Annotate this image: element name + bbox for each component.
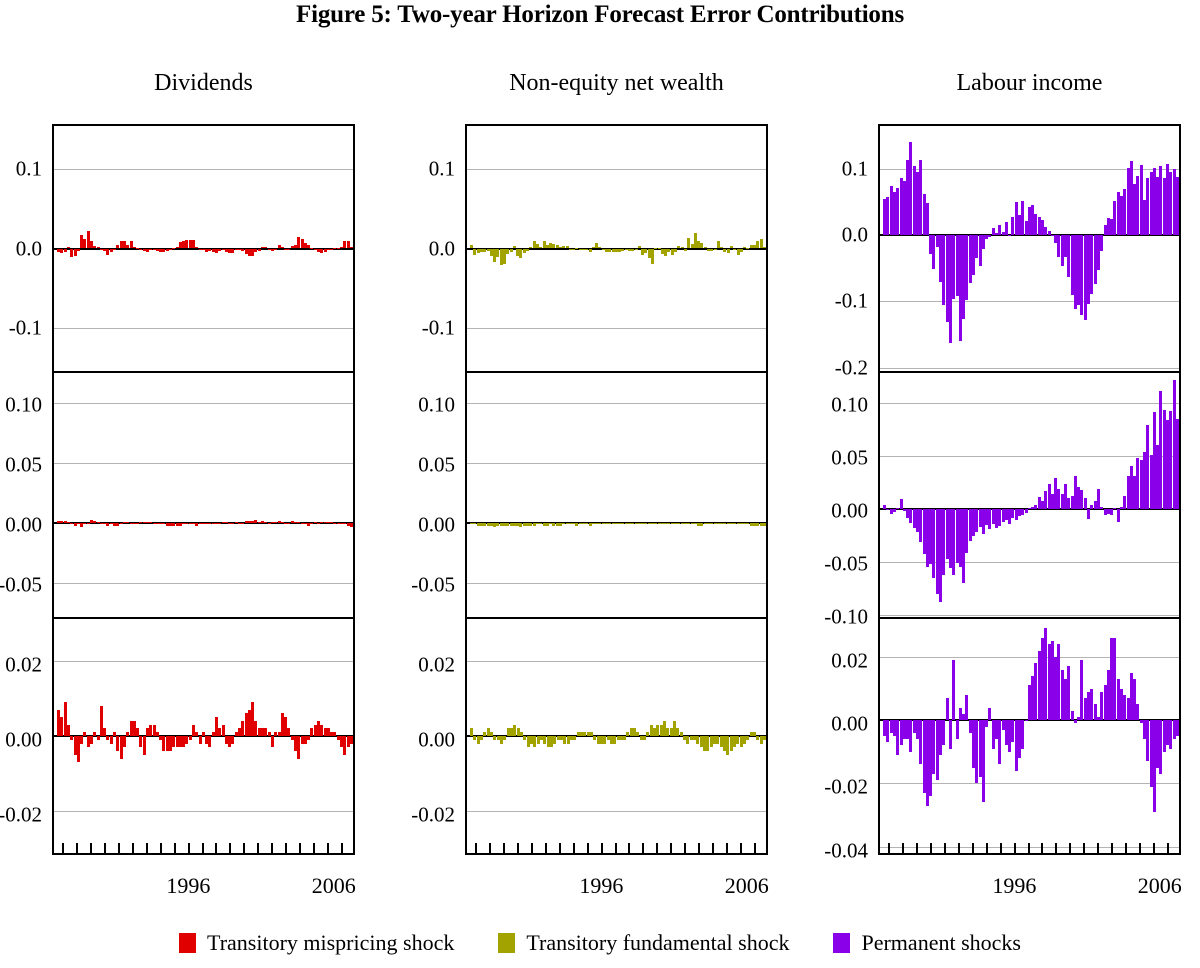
x-axis-label-2006: 2006 <box>1138 873 1182 899</box>
bar <box>1136 704 1139 720</box>
x-axis-ticks <box>52 843 355 855</box>
bar <box>113 249 116 251</box>
x-tick-mark <box>740 843 742 855</box>
x-tick-mark <box>146 843 148 855</box>
panel-non-equity-net-wealth-transitory-fundamental-shock <box>465 617 768 855</box>
bar <box>199 736 202 744</box>
x-tick-mark <box>313 843 315 855</box>
x-tick-mark <box>243 843 245 855</box>
y-tick-label: -0.1 <box>369 315 455 340</box>
x-axis-label-2006: 2006 <box>312 873 356 899</box>
y-tick-label: 0.00 <box>369 513 455 538</box>
y-tick-label: 0.02 <box>0 652 42 677</box>
legend-label-transitory-fundamental: Transitory fundamental shock <box>526 930 789 956</box>
x-tick-mark <box>1014 843 1016 855</box>
bar <box>480 736 483 740</box>
bar <box>900 499 903 509</box>
bar <box>526 249 529 251</box>
x-tick-mark <box>271 843 273 855</box>
bar <box>1176 419 1179 509</box>
bar <box>1071 711 1074 720</box>
bar <box>208 736 211 747</box>
legend-swatch-icon-permanent <box>833 933 850 953</box>
bar <box>949 720 952 748</box>
x-tick-mark <box>958 843 960 855</box>
bar <box>287 249 290 251</box>
x-tick-mark <box>726 843 728 855</box>
bar-series-transitory-mispricing-shock <box>54 373 353 617</box>
panel-non-equity-net-wealth-transitory-fundamental-shock <box>465 124 768 373</box>
bar <box>1176 177 1179 235</box>
y-tick-label: 0.02 <box>782 648 868 673</box>
bar <box>67 725 70 736</box>
x-tick-mark <box>174 843 176 855</box>
bar <box>1074 720 1077 723</box>
x-tick-mark <box>916 843 918 855</box>
bar <box>727 249 730 254</box>
x-tick-mark <box>90 843 92 855</box>
y-tick-label: 0.10 <box>369 393 455 418</box>
x-tick-mark <box>1028 843 1030 855</box>
x-tick-mark <box>656 843 658 855</box>
x-axis-label-2006: 2006 <box>725 873 769 899</box>
x-tick-mark <box>573 843 575 855</box>
bar <box>222 725 225 736</box>
y-tick-label: 0.1 <box>0 157 42 182</box>
x-tick-mark <box>930 843 932 855</box>
bar <box>310 523 313 524</box>
x-tick-mark <box>712 843 714 855</box>
bar <box>470 728 473 736</box>
bar <box>231 736 234 744</box>
bar-series-transitory-mispricing-shock <box>54 619 353 853</box>
legend: Transitory mispricing shock Transitory f… <box>0 930 1200 956</box>
bar <box>136 728 139 736</box>
y-tick-label: -0.04 <box>782 838 868 863</box>
x-tick-mark <box>188 843 190 855</box>
y-tick-label: 0.00 <box>782 712 868 737</box>
legend-swatch-icon-transitory-mispricing <box>179 933 196 953</box>
x-tick-mark <box>1000 843 1002 855</box>
panel-column-labour-income <box>878 124 1181 855</box>
bar <box>189 736 192 740</box>
bar <box>87 523 90 524</box>
y-tick-label: -0.02 <box>0 803 42 828</box>
bar <box>740 249 743 252</box>
panel-dividends-transitory-mispricing-shock <box>52 371 355 619</box>
y-tick-label: 0.1 <box>369 157 455 182</box>
bar <box>893 509 896 512</box>
y-tick-label: 0.10 <box>0 393 42 418</box>
y-tick-label: 0.10 <box>782 392 868 417</box>
x-tick-mark <box>986 843 988 855</box>
legend-label-transitory-mispricing: Transitory mispricing shock <box>207 930 454 956</box>
x-tick-mark <box>531 843 533 855</box>
bar <box>985 720 988 726</box>
x-tick-mark <box>118 843 120 855</box>
panel-column-dividends <box>52 124 355 855</box>
x-tick-mark <box>62 843 64 855</box>
bar <box>136 523 139 524</box>
x-axis-ticks <box>465 843 768 855</box>
x-tick-mark <box>972 843 974 855</box>
bar <box>952 660 955 720</box>
bar <box>241 523 244 524</box>
x-tick-mark <box>628 843 630 855</box>
column-header-non-equity-net-wealth: Non-equity net wealth <box>465 70 768 97</box>
x-tick-mark <box>341 843 343 855</box>
bar <box>1100 235 1103 251</box>
bar-series-permanent-shocks <box>880 619 1179 853</box>
legend-swatch-icon-transitory-fundamental <box>498 933 515 953</box>
y-tick-label: 0.05 <box>782 445 868 470</box>
y-tick-label: -0.02 <box>782 775 868 800</box>
figure-number: Figure 5 <box>296 1 384 28</box>
bar <box>274 249 277 251</box>
y-tick-label: 0.05 <box>0 453 42 478</box>
panel-labour-income-permanent-shocks <box>878 124 1181 373</box>
x-tick-mark <box>160 843 162 855</box>
x-tick-mark <box>257 843 259 855</box>
panel-labour-income-permanent-shocks <box>878 371 1181 619</box>
panel-column-non-equity-net-wealth <box>465 124 768 855</box>
bar <box>268 523 271 524</box>
bar <box>97 736 100 740</box>
y-tick-label: -0.05 <box>782 551 868 576</box>
bar <box>503 736 506 740</box>
legend-item-permanent[interactable]: Permanent shocks <box>833 930 1020 956</box>
bar <box>763 247 766 249</box>
bar <box>64 249 67 252</box>
x-tick-mark <box>1055 843 1057 855</box>
y-tick-label: 0.1 <box>782 157 868 182</box>
bar <box>573 736 576 740</box>
x-tick-mark <box>1041 843 1043 855</box>
bar <box>763 736 766 740</box>
x-tick-mark <box>559 843 561 855</box>
bar <box>77 249 80 251</box>
y-tick-label: -0.05 <box>369 573 455 598</box>
bar <box>169 249 172 251</box>
x-axis-label-1996: 1996 <box>166 873 210 899</box>
bar <box>123 736 126 747</box>
bar <box>110 736 113 744</box>
y-tick-label: -0.05 <box>0 573 42 598</box>
bar <box>287 523 290 524</box>
bar <box>231 523 234 524</box>
bar <box>714 249 717 251</box>
x-tick-mark <box>132 843 134 855</box>
bar-series-transitory-mispricing-shock <box>54 126 353 371</box>
panel-dividends-transitory-mispricing-shock <box>52 124 355 373</box>
x-tick-mark <box>1097 843 1099 855</box>
bar <box>218 523 221 524</box>
bar <box>946 698 949 720</box>
bar <box>350 523 353 527</box>
x-tick-mark <box>215 843 217 855</box>
bar <box>965 695 968 720</box>
x-tick-mark <box>601 843 603 855</box>
bar <box>1025 509 1028 513</box>
column-header-labour-income: Labour income <box>878 70 1181 97</box>
column-header-dividends: Dividends <box>52 70 355 97</box>
x-tick-mark <box>670 843 672 855</box>
y-tick-label: -0.10 <box>782 604 868 629</box>
bar <box>1005 222 1008 235</box>
panel-labour-income-permanent-shocks <box>878 617 1181 855</box>
x-tick-mark <box>517 843 519 855</box>
y-tick-label: -0.1 <box>0 315 42 340</box>
x-tick-mark <box>902 843 904 855</box>
y-tick-label: 0.05 <box>369 453 455 478</box>
bar <box>271 736 274 747</box>
panel-non-equity-net-wealth-transitory-fundamental-shock <box>465 371 768 619</box>
bar <box>651 249 654 264</box>
x-tick-mark <box>698 843 700 855</box>
legend-item-transitory-fundamental[interactable]: Transitory fundamental shock <box>498 930 789 956</box>
y-tick-label: 0.00 <box>782 498 868 523</box>
bar <box>623 736 626 740</box>
bar <box>350 736 353 744</box>
y-tick-label: -0.1 <box>782 289 868 314</box>
x-tick-mark <box>299 843 301 855</box>
x-tick-mark <box>944 843 946 855</box>
bar-series-transitory-fundamental-shock <box>467 619 766 853</box>
figure-title-separator: : <box>384 1 398 28</box>
x-tick-mark <box>503 843 505 855</box>
bar <box>926 203 929 235</box>
bar <box>1087 509 1090 520</box>
bar <box>1110 509 1113 515</box>
bar <box>643 736 646 740</box>
bar <box>1084 498 1087 509</box>
x-tick-mark <box>642 843 644 855</box>
bar <box>143 736 146 755</box>
bar-series-permanent-shocks <box>880 126 1179 371</box>
x-axis-label-1996: 1996 <box>579 873 623 899</box>
bar <box>1176 720 1179 736</box>
legend-item-transitory-mispricing[interactable]: Transitory mispricing shock <box>179 930 454 956</box>
x-axis-label-1996: 1996 <box>992 873 1036 899</box>
x-tick-mark <box>615 843 617 855</box>
y-tick-label: 0.00 <box>0 728 42 753</box>
bar <box>350 247 353 249</box>
y-tick-label: -0.02 <box>369 803 455 828</box>
bar-series-permanent-shocks <box>880 373 1179 617</box>
x-tick-mark <box>202 843 204 855</box>
bar <box>510 249 513 253</box>
x-tick-mark <box>104 843 106 855</box>
bar <box>317 523 320 524</box>
x-tick-mark <box>1153 843 1155 855</box>
x-tick-mark <box>76 843 78 855</box>
x-tick-mark <box>587 843 589 855</box>
bar <box>956 720 959 739</box>
bar <box>674 249 677 252</box>
bar <box>635 249 638 251</box>
x-tick-mark <box>545 843 547 855</box>
bar <box>80 736 83 744</box>
bar <box>982 720 985 802</box>
bar <box>589 249 592 252</box>
bar <box>763 523 766 525</box>
bar <box>1021 720 1024 748</box>
y-tick-label: 0.0 <box>369 236 455 261</box>
x-tick-mark <box>1125 843 1127 855</box>
x-axis-ticks <box>878 843 1181 855</box>
y-tick-label: 0.0 <box>782 223 868 248</box>
bar <box>1025 720 1028 721</box>
panel-dividends-transitory-mispricing-shock <box>52 617 355 855</box>
bar <box>120 523 123 524</box>
x-tick-mark <box>285 843 287 855</box>
bar-series-transitory-fundamental-shock <box>467 373 766 617</box>
y-tick-label: 0.00 <box>0 513 42 538</box>
bar <box>988 708 991 721</box>
bar <box>287 728 290 736</box>
x-tick-mark <box>888 843 890 855</box>
x-tick-mark <box>1167 843 1169 855</box>
bar <box>90 736 93 744</box>
bar <box>103 728 106 736</box>
x-tick-mark <box>327 843 329 855</box>
y-tick-label: 0.0 <box>0 236 42 261</box>
x-tick-mark <box>1139 843 1141 855</box>
x-tick-mark <box>684 843 686 855</box>
legend-label-permanent: Permanent shocks <box>861 930 1020 956</box>
bar <box>684 249 687 251</box>
figure-title-text: Two-year Horizon Forecast Error Contribu… <box>397 1 904 28</box>
bar <box>942 720 945 745</box>
x-tick-mark <box>754 843 756 855</box>
bar <box>307 736 310 740</box>
bar <box>1117 509 1120 522</box>
bar <box>746 736 749 740</box>
figure-title: Figure 5: Two-year Horizon Forecast Erro… <box>0 0 1200 30</box>
x-tick-mark <box>475 843 477 855</box>
x-tick-mark <box>229 843 231 855</box>
x-tick-mark <box>1069 843 1071 855</box>
x-tick-mark <box>1083 843 1085 855</box>
y-tick-label: -0.2 <box>782 355 868 380</box>
x-tick-mark <box>1111 843 1113 855</box>
bar <box>258 249 261 251</box>
y-tick-label: 0.02 <box>369 652 455 677</box>
y-tick-label: 0.00 <box>369 728 455 753</box>
bar-series-transitory-fundamental-shock <box>467 126 766 371</box>
x-tick-mark <box>489 843 491 855</box>
bar <box>988 235 991 236</box>
